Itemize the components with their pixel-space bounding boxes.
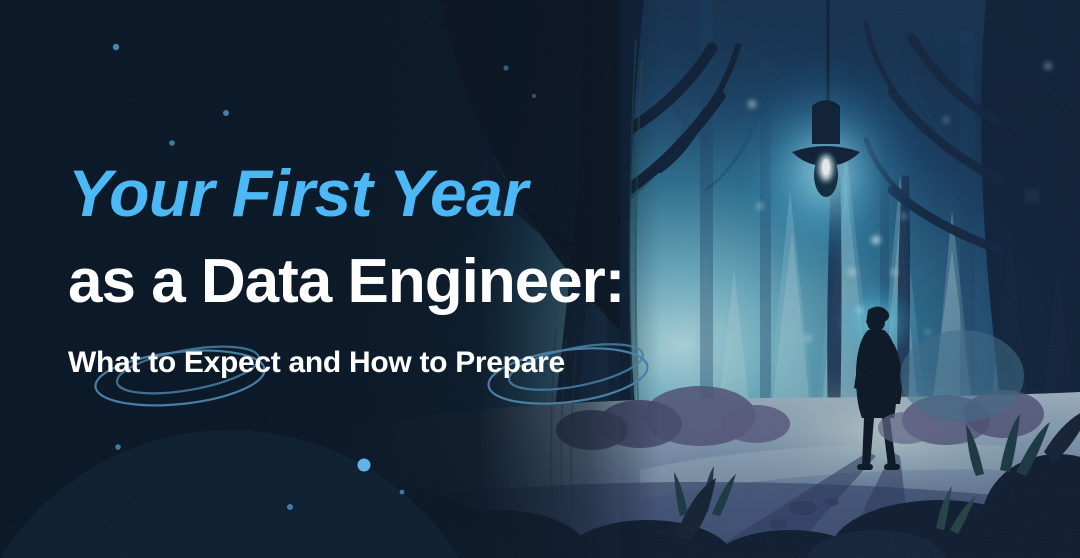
headline-line-1: Your First Year [68,160,768,227]
decor-dot-7 [503,65,508,70]
decor-dot-3 [115,444,121,450]
decor-dot-4 [358,459,371,472]
decor-dot-2 [169,140,175,146]
decor-dot-1 [223,110,229,116]
decor-dot-8 [532,94,536,98]
blog-header-banner: Your First Year as a Data Engineer: What… [0,0,1080,558]
headline-subtitle: What to Expect and How to Prepare [68,346,768,380]
headline-block: Your First Year as a Data Engineer: What… [68,160,768,380]
decor-dot-0 [113,44,119,50]
decor-dot-5 [287,504,293,510]
decor-dot-6 [400,490,405,495]
headline-line-2: as a Data Engineer: [68,249,768,314]
